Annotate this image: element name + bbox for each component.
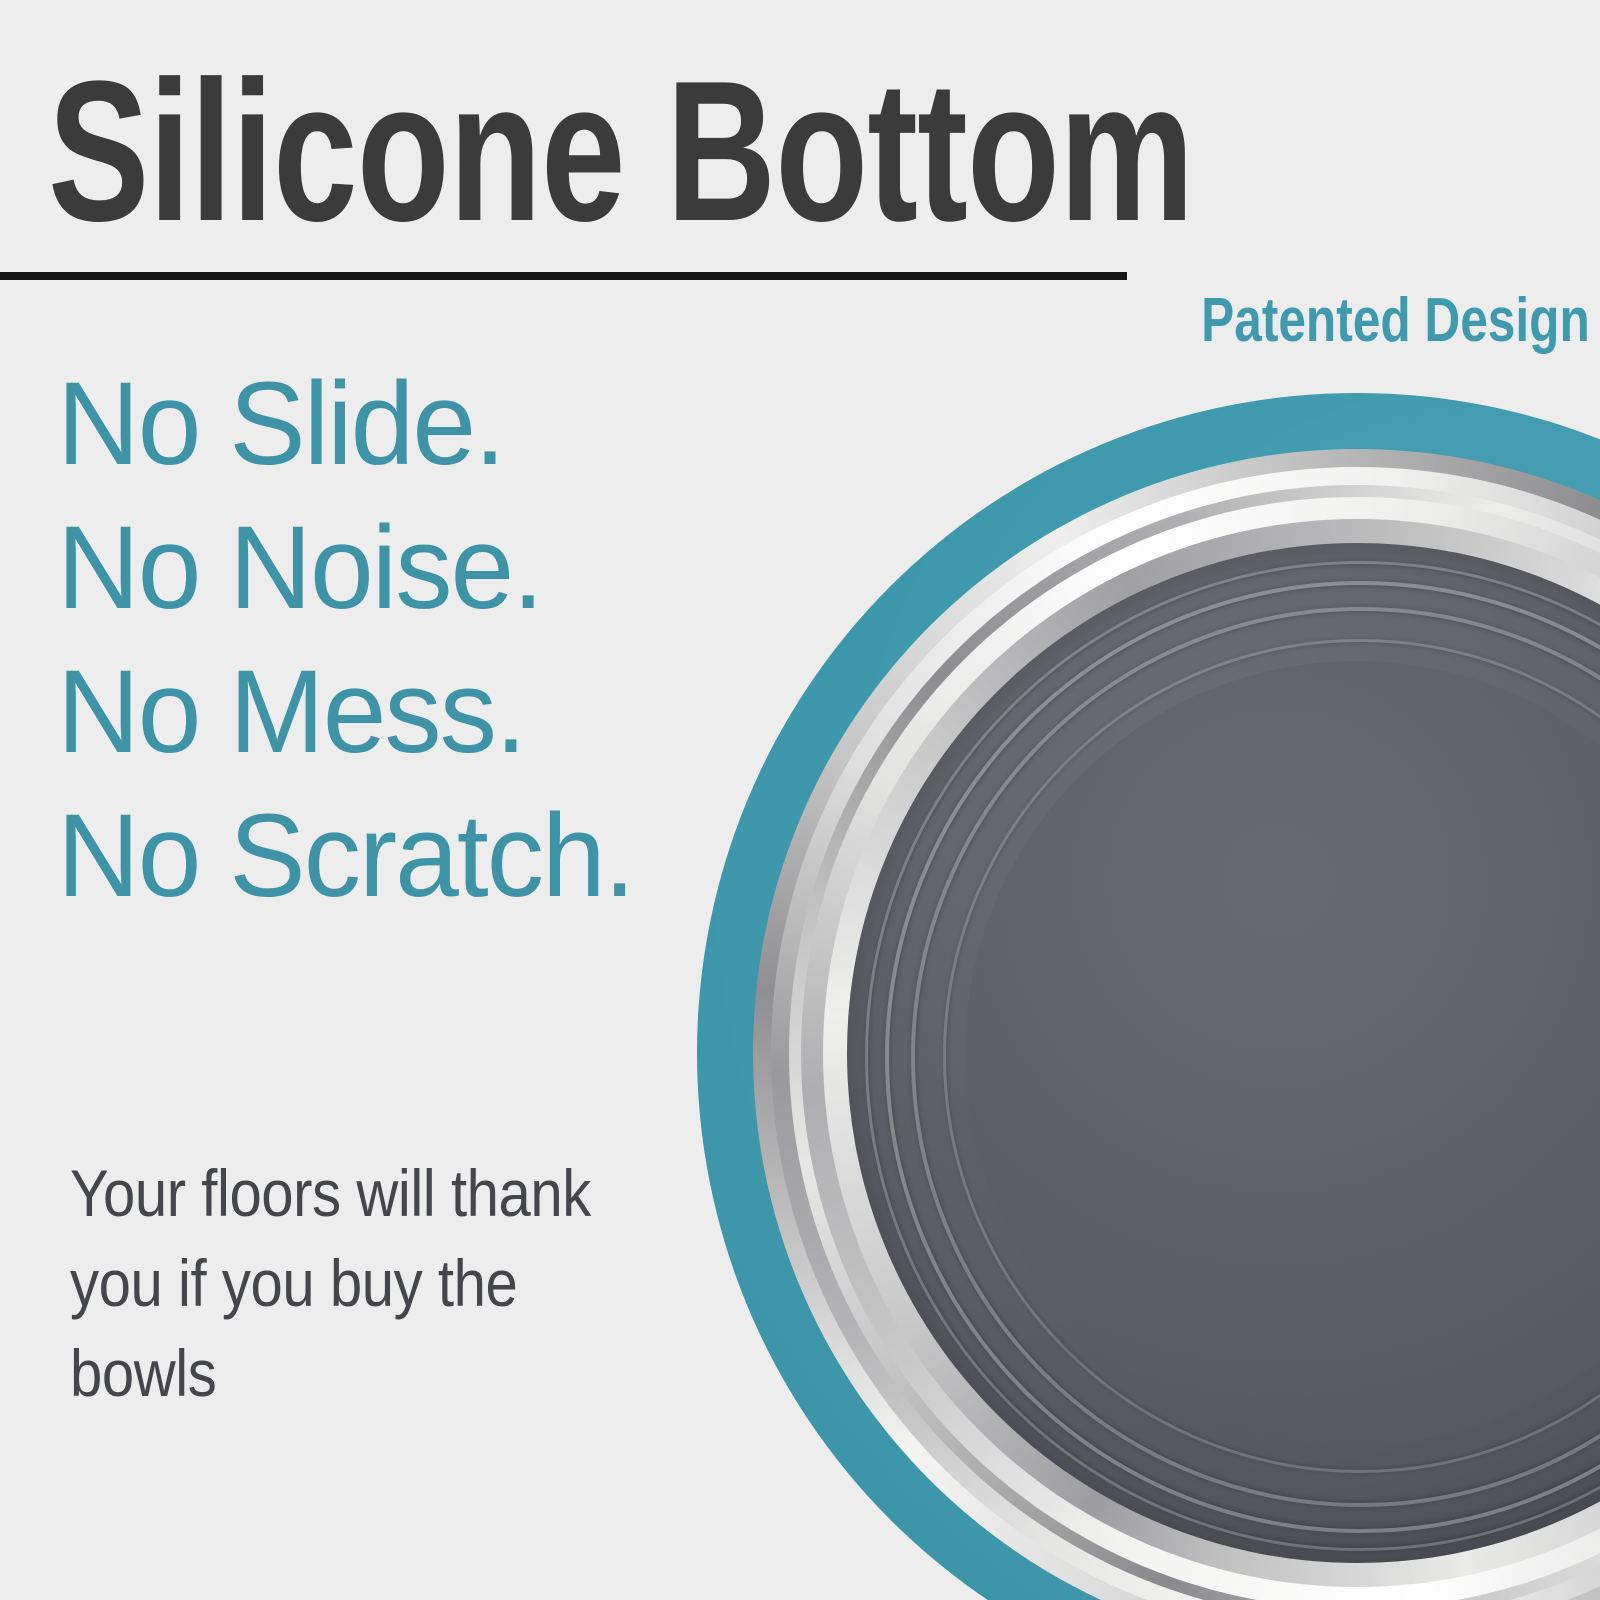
benefit-item-no-scratch: No Scratch. [57, 784, 794, 928]
silicone-pad-groove-4 [943, 639, 1600, 1473]
silicone-pad [847, 543, 1600, 1563]
silicone-outer-ring [697, 393, 1600, 1600]
patented-design-badge: Patented Design [1201, 290, 1590, 352]
steel-rim-inner [823, 519, 1600, 1587]
benefit-list: No Slide. No Noise. No Mess. No Scratch. [57, 352, 817, 928]
benefit-item-no-slide: No Slide. [57, 352, 794, 496]
silicone-pad-groove-3 [911, 607, 1600, 1507]
steel-rim-highlight-inner [801, 497, 1600, 1600]
benefit-item-no-mess: No Mess. [57, 640, 794, 784]
silicone-pad-center [965, 661, 1600, 1445]
product-image-pet-bowl [697, 393, 1600, 1600]
silicone-pad-groove-2 [885, 581, 1600, 1533]
page-title: Silicone Bottom [48, 52, 1194, 252]
steel-rim-outer [753, 449, 1600, 1600]
title-divider-rule [0, 272, 1127, 280]
silicone-pad-groove-1 [865, 561, 1600, 1551]
benefit-item-no-noise: No Noise. [57, 496, 794, 640]
marketing-infographic: Silicone Bottom Patented Design No Slide… [0, 0, 1600, 1600]
silicone-ring-shading [697, 393, 1600, 1600]
supporting-copy: Your floors will thank you if you buy th… [70, 1148, 633, 1418]
steel-rim-groove [789, 485, 1600, 1600]
steel-rim-highlight-outer [771, 467, 1600, 1600]
